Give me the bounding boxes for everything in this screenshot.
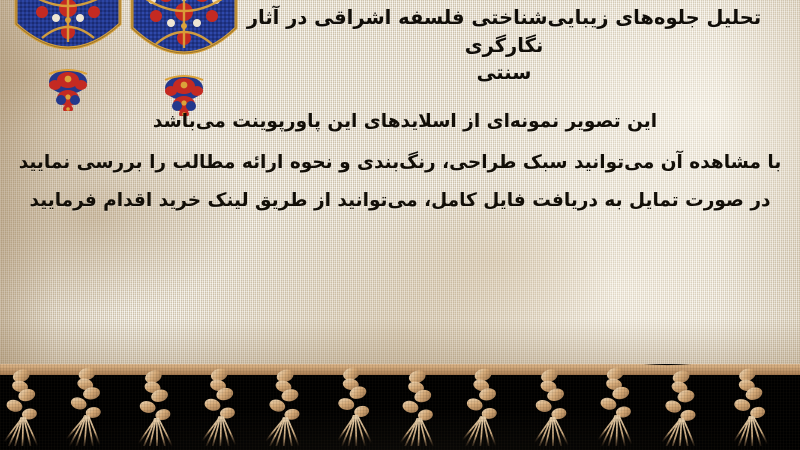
fringe-tassels-icon bbox=[0, 366, 800, 446]
persian-illumination-pendant-left-icon bbox=[12, 0, 124, 115]
persian-illumination-pendant-right-icon bbox=[128, 0, 240, 120]
slide-body-text: این تصویر نمونه‌ای از اسلایدهای این پاور… bbox=[18, 113, 782, 211]
body-line-3: در صورت تمایل به دریافت فایل کامل، می‌تو… bbox=[18, 192, 782, 211]
slide-title: تحلیل جلوه‌های زیبایی‌شناختی فلسفه اشراق… bbox=[230, 4, 778, 87]
body-line-1: این تصویر نمونه‌ای از اسلایدهای این پاور… bbox=[18, 113, 782, 132]
slide-canvas: تحلیل جلوه‌های زیبایی‌شناختی فلسفه اشراق… bbox=[0, 0, 800, 450]
body-line-2: با مشاهده آن می‌توانید سبک طراحی، رنگ‌بن… bbox=[18, 154, 782, 173]
carpet-fringe-band bbox=[0, 364, 800, 450]
slide-title-line-2: سنتی bbox=[230, 59, 778, 87]
slide-title-line-1: تحلیل جلوه‌های زیبایی‌شناختی فلسفه اشراق… bbox=[230, 4, 778, 59]
